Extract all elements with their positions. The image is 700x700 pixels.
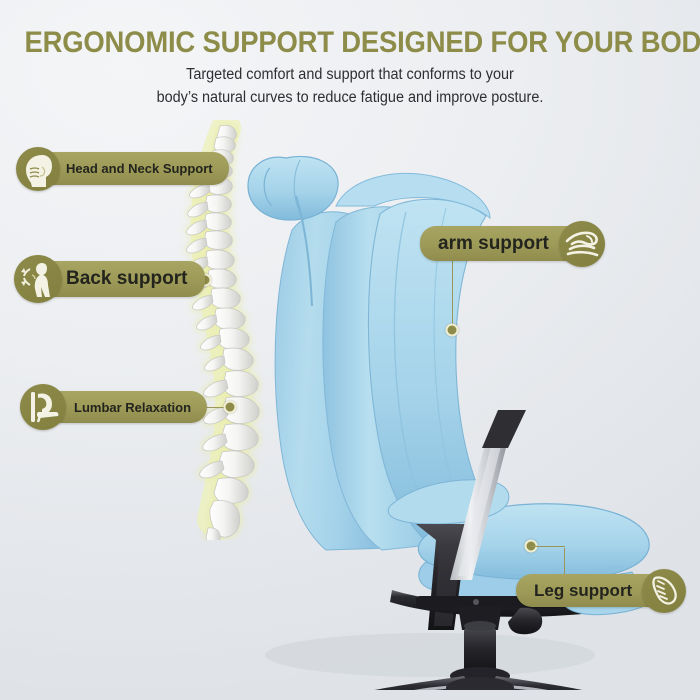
connector-dot-arm-support <box>446 324 459 337</box>
callout-back-support[interactable]: Back support <box>16 261 205 297</box>
callout-label: Leg support <box>534 581 632 601</box>
callout-label: Back support <box>66 268 187 290</box>
callout-arm-support[interactable]: arm support <box>420 226 601 261</box>
callout-pill[interactable]: arm support <box>420 226 601 261</box>
callout-label: arm support <box>438 233 549 255</box>
connector-arm-support <box>452 261 453 329</box>
connector-dot-lumbar-relaxation <box>224 401 237 414</box>
callout-pill[interactable]: Head and Neck Support <box>18 152 229 185</box>
subtitle-line-1: Targeted comfort and support that confor… <box>25 63 676 86</box>
subtitle-line-2: body’s natural curves to reduce fatigue … <box>25 86 676 109</box>
lumbar-chair-icon <box>20 384 66 430</box>
foot-shoe-icon <box>642 569 686 613</box>
page-subtitle: Targeted comfort and support that confor… <box>25 63 676 109</box>
callout-leg-support[interactable]: Leg support <box>516 574 682 607</box>
callout-pill[interactable]: Lumbar Relaxation <box>24 391 207 423</box>
connector-leg-support-horizontal <box>531 546 565 547</box>
spine-figure-icon <box>14 255 62 303</box>
callout-lumbar-relaxation[interactable]: Lumbar Relaxation <box>24 391 207 423</box>
connector-leg-support <box>564 548 565 576</box>
head-profile-icon <box>16 147 60 191</box>
hand-arm-icon <box>559 221 605 267</box>
callout-head-and-neck-support[interactable]: Head and Neck Support <box>18 152 229 185</box>
infographic-canvas: ERGONOMIC SUPPORT DESIGNED FOR YOUR BODY… <box>0 0 700 700</box>
callout-label: Lumbar Relaxation <box>74 400 191 415</box>
callout-pill[interactable]: Back support <box>16 261 205 297</box>
callout-pill[interactable]: Leg support <box>516 574 682 607</box>
page-title: ERGONOMIC SUPPORT DESIGNED FOR YOUR BODY <box>25 26 676 60</box>
callout-label: Head and Neck Support <box>66 161 213 176</box>
